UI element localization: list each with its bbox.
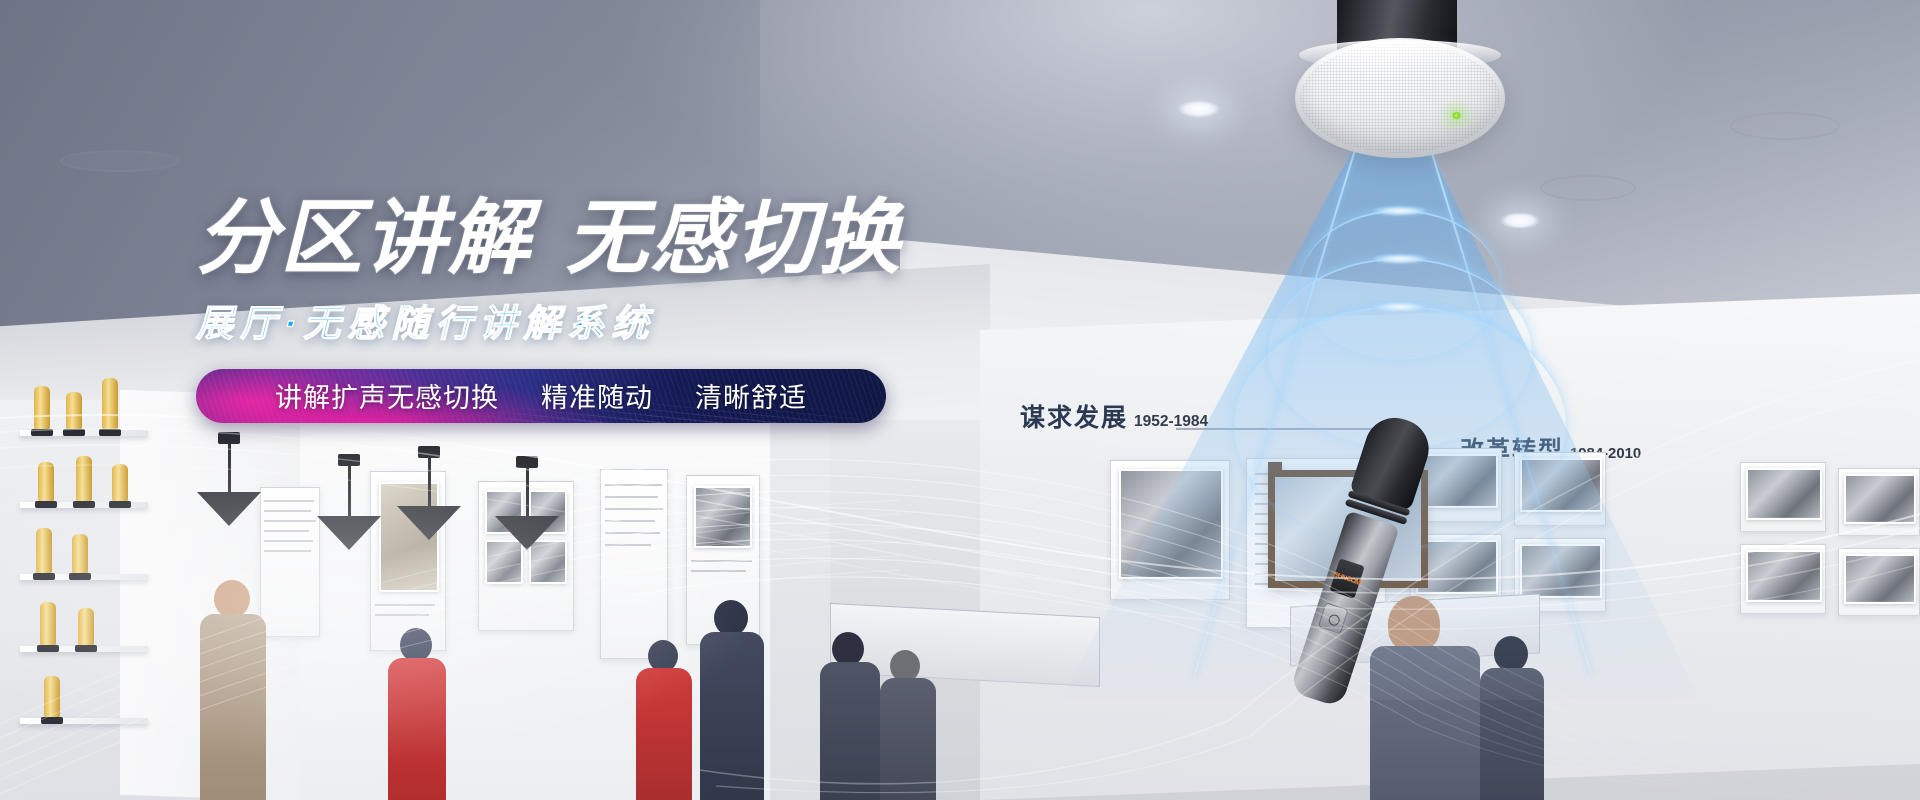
trophy-icon xyxy=(76,456,92,502)
pendant-light-cord xyxy=(348,460,351,518)
exhibit-photo-panel xyxy=(1838,548,1920,616)
trophy-icon xyxy=(112,464,128,502)
speaker-rim-highlight xyxy=(1299,40,1501,70)
pendant-light-icon xyxy=(495,516,559,550)
promo-banner: 谋求发展1952-1984 改革转型1984-2010 xyxy=(0,0,1920,800)
trophy-icon xyxy=(44,676,60,718)
exhibit-text-panel xyxy=(600,469,668,659)
title-part-1: 分区讲解 xyxy=(196,193,532,284)
ceiling-speaker[interactable] xyxy=(1295,0,1505,175)
pendant-light-mount xyxy=(338,454,360,466)
pendant-light-icon xyxy=(197,492,261,526)
pendant-light-cord xyxy=(228,438,231,494)
pendant-light-mount xyxy=(418,446,440,458)
pendant-light-mount xyxy=(218,432,240,444)
sound-wave-glow xyxy=(1372,302,1428,312)
trophy-icon xyxy=(36,528,52,574)
exhibit-photo-panel xyxy=(1740,544,1826,614)
trophy-icon xyxy=(34,386,50,430)
sound-wave-glow xyxy=(1372,254,1428,264)
feature-pill: 讲解扩声无感切换 精准随动 清晰舒适 xyxy=(196,369,886,423)
exhibit-portrait-panel xyxy=(370,471,446,651)
sound-wave-glow xyxy=(1372,206,1428,216)
pendant-light-icon xyxy=(397,506,461,540)
exhibit-photo-panel xyxy=(1740,462,1826,532)
page-title: 分区讲解无感切换 xyxy=(196,196,1096,283)
title-part-2: 无感切换 xyxy=(566,193,902,284)
pendant-light-cord xyxy=(526,462,529,518)
ceiling-vent-icon xyxy=(1540,175,1636,201)
microphone-brand-label: SUNCOM xyxy=(1333,571,1362,586)
pendant-light-mount xyxy=(516,456,538,468)
page-subtitle: 展厅·无感随行讲解系统 xyxy=(196,293,1096,347)
trophy-icon xyxy=(102,378,118,430)
banner-copy-block: 分区讲解无感切换 展厅·无感随行讲解系统 讲解扩声无感切换 精准随动 清晰舒适 xyxy=(196,196,1096,423)
feature-item-3: 清晰舒适 xyxy=(695,376,807,415)
trophy-icon xyxy=(66,392,82,430)
trophy-icon xyxy=(40,602,56,646)
pendant-light-cord xyxy=(428,452,431,508)
ceiling-downlight-icon xyxy=(1500,212,1540,229)
pendant-light-icon xyxy=(317,516,381,550)
ceiling-downlight-icon xyxy=(1178,100,1220,118)
ceiling-vent-icon xyxy=(1730,112,1840,140)
feature-item-2: 精准随动 xyxy=(541,376,653,415)
trophy-icon xyxy=(78,608,94,646)
trophy-icon xyxy=(38,462,54,502)
trophy-icon xyxy=(72,534,88,574)
ceiling-vent-icon xyxy=(60,150,180,172)
exhibit-text-panel xyxy=(260,487,320,637)
speaker-led-indicator xyxy=(1452,112,1461,119)
feature-item-1: 讲解扩声无感切换 xyxy=(275,376,499,415)
exhibit-photo-panel xyxy=(1838,468,1920,536)
trophy-shelf-unit xyxy=(20,430,150,790)
